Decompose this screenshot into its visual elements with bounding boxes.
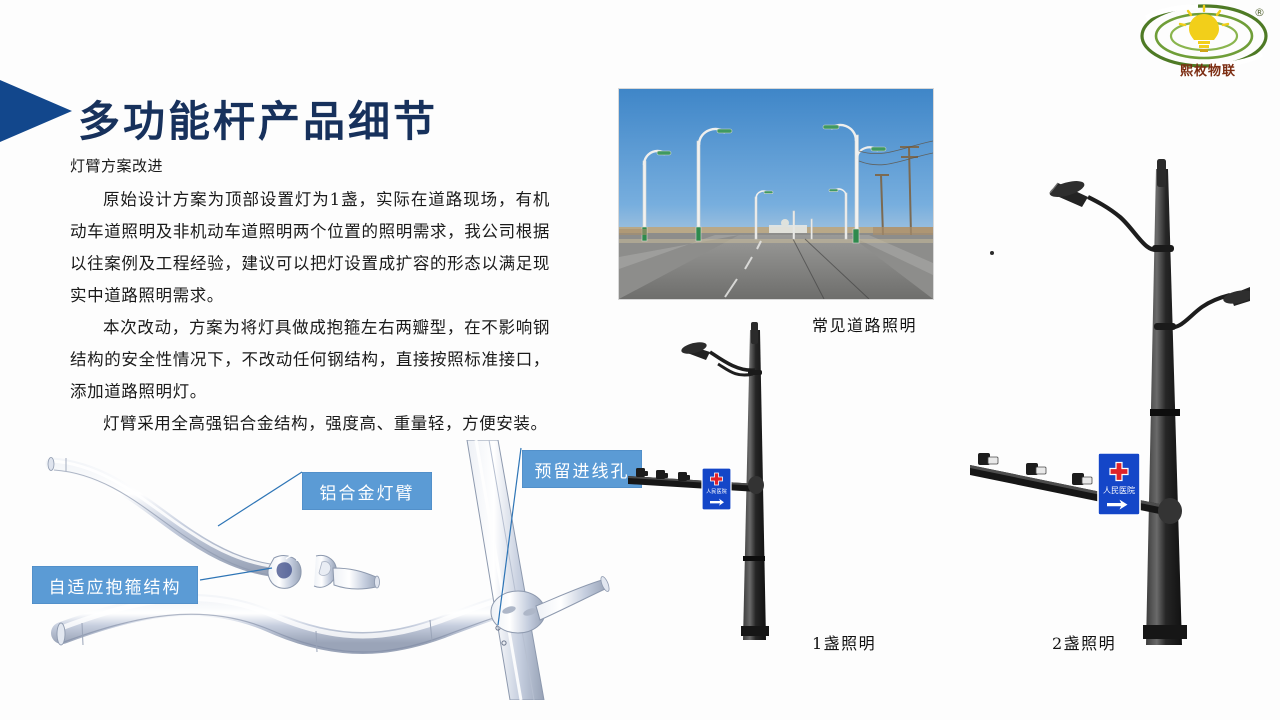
body-lead: 灯臂方案改进 xyxy=(70,152,550,180)
hospital-sign: 人民医院 xyxy=(702,468,731,510)
body-paragraph-3: 灯臂采用全高强铝合金结构，强度高、重量轻，方便安装。 xyxy=(70,408,550,440)
registered-trademark-icon: ® xyxy=(1254,6,1265,19)
caption-two-lamp: 2盏照明 xyxy=(1052,630,1116,654)
caption-one-lamp: 1盏照明 xyxy=(812,630,876,654)
body-paragraph-1: 原始设计方案为顶部设置灯为1盏，实际在道路现场，有机动车道照明及非机动车道照明两… xyxy=(70,184,550,312)
arm-upper-curve xyxy=(48,458,270,576)
road-lighting-photo xyxy=(618,88,934,300)
slide-canvas: ® 熙枚物联 多功能杆产品细节 灯臂方案改进 原始设计方案为顶部设置灯为1盏，实… xyxy=(0,0,1280,720)
pole-render-two-lamp: 人民医院 xyxy=(950,155,1250,645)
callout-adaptive-clamp[interactable]: 自适应抱箍结构 xyxy=(32,566,198,604)
page-title: 多功能杆产品细节 xyxy=(78,88,438,149)
svg-text:人民医院: 人民医院 xyxy=(706,487,728,495)
sign-text: 人民医院 xyxy=(1103,485,1135,495)
body-paragraph-2: 本次改动，方案为将灯具做成抱箍左右两瓣型，在不影响钢结构的安全性情况下，不改动任… xyxy=(70,312,550,408)
logo-brand-text: 熙枚物联 xyxy=(1138,60,1278,79)
pole-render-one-lamp: 人民医院 xyxy=(610,320,830,640)
hospital-sign-large: 人民医院 xyxy=(1098,453,1140,515)
body-text-block: 灯臂方案改进 原始设计方案为顶部设置灯为1盏，实际在道路现场，有机动车道照明及非… xyxy=(70,152,550,440)
road-photo-render xyxy=(619,89,933,299)
clamp-halves-detail xyxy=(268,555,379,589)
company-logo: ® 熙枚物联 xyxy=(1138,2,1278,84)
callout-aluminum-arm[interactable]: 铝合金灯臂 xyxy=(302,472,432,510)
triangle-right-icon xyxy=(0,80,72,142)
